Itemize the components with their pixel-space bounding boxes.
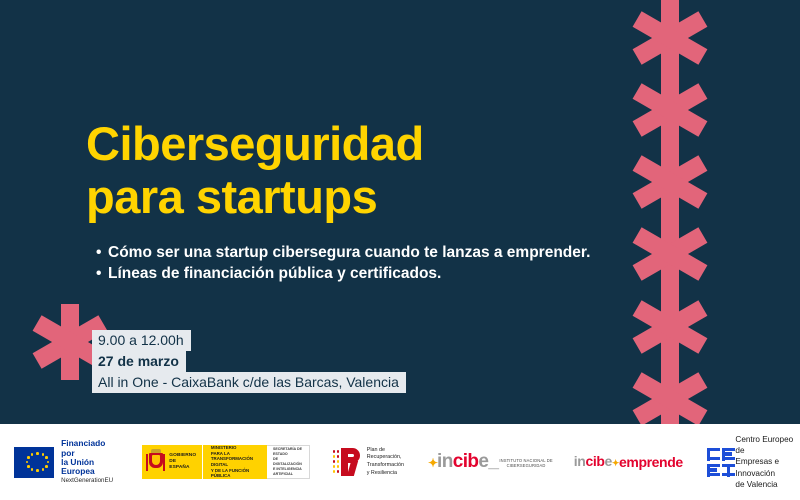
incibe-logo: ✦incibe_ INSTITUTO NACIONAL DE CIBERSEGU… <box>428 452 554 473</box>
hero-section: Ciberseguridad para startups •Cómo ser u… <box>0 0 800 424</box>
ceei-mark-icon <box>707 448 730 477</box>
bullet-marker: • <box>96 263 108 284</box>
prtr-label: Plan de Recuperación, Transformación y R… <box>367 447 404 478</box>
emprende-part-3: e <box>604 453 611 469</box>
asterisk-icon-right-6 <box>633 361 708 424</box>
bullet-text: Cómo ser una startup cibersegura cuando … <box>108 244 590 261</box>
incibe-part-1: in <box>437 451 453 472</box>
gobierno-label: GOBIERNO DE ESPAÑA <box>169 453 197 471</box>
prtr-r-icon <box>332 447 362 477</box>
gobierno-block: GOBIERNO DE ESPAÑA <box>142 445 202 479</box>
emprende-wordmark-top: incibe✦ <box>574 454 619 470</box>
asterisk-icon-right-5 <box>633 289 708 365</box>
event-date: 27 de marzo <box>92 351 186 372</box>
plan-recuperacion-logo: Plan de Recuperación, Transformación y R… <box>332 447 404 478</box>
eu-funding-logo: Financiado por la Unión Europea NextGene… <box>14 439 120 485</box>
bullet-marker: • <box>96 242 108 263</box>
emprende-wordmark-bottom: emprende <box>619 455 683 469</box>
incibe-wordmark: ✦incibe_ <box>428 452 498 473</box>
eu-flag-icon <box>14 447 54 478</box>
ceei-valencia-logo: Centro Europeo de Empresas e Innovación … <box>707 434 800 489</box>
ministerio-block: MINISTERIO PARA LA TRANSFORMACIÓN DIGITA… <box>202 445 267 479</box>
emprende-part-1: in <box>574 453 586 469</box>
prtr-dots-icon <box>333 449 341 475</box>
poster-canvas: Ciberseguridad para startups •Cómo ser u… <box>0 0 800 500</box>
asterisk-icon-right-3 <box>633 144 708 220</box>
list-item: •Cómo ser una startup cibersegura cuando… <box>96 242 590 263</box>
incibe-emprende-logo: incibe✦ emprende <box>574 454 683 470</box>
eu-line-1: Financiado por <box>61 439 120 458</box>
ministerio-label: MINISTERIO PARA LA TRANSFORMACIÓN DIGITA… <box>211 445 261 479</box>
emprende-part-2: cib <box>585 453 604 469</box>
asterisk-icon-right-2 <box>633 72 708 148</box>
secretaria-block: SECRETARÍA DE ESTADO DE DIGITALIZACIÓN E… <box>267 445 310 479</box>
eu-line-2: la Unión Europea <box>61 458 120 477</box>
asterisk-icon-right-1 <box>633 0 708 76</box>
eu-line-3: NextGenerationEU <box>61 478 120 485</box>
page-title: Ciberseguridad para startups <box>86 118 424 223</box>
emprende-diamond-icon: ✦ <box>612 458 619 468</box>
incibe-subtitle: INSTITUTO NACIONAL DE CIBERSEGURIDAD <box>498 458 553 468</box>
footer-logo-bar: Financiado por la Unión Europea NextGene… <box>0 424 800 500</box>
incibe-part-3: e_ <box>478 451 498 472</box>
event-time: 9.00 a 12.00h <box>92 330 191 351</box>
bullet-text: Líneas de financiación pública y certifi… <box>108 265 441 282</box>
asterisk-icon-right-4 <box>633 216 708 292</box>
secretaria-label: SECRETARÍA DE ESTADO DE DIGITALIZACIÓN E… <box>273 447 304 476</box>
coat-of-arms-icon <box>146 449 165 475</box>
incibe-part-2: cib <box>453 451 479 472</box>
incibe-diamond-icon: ✦ <box>428 456 437 470</box>
gobierno-espana-logo: GOBIERNO DE ESPAÑA MINISTERIO PARA LA TR… <box>142 445 310 479</box>
bullet-list: •Cómo ser una startup cibersegura cuando… <box>96 242 590 284</box>
event-venue: All in One - CaixaBank c/de las Barcas, … <box>92 372 406 393</box>
list-item: •Líneas de financiación pública y certif… <box>96 263 590 284</box>
event-info-block: 9.00 a 12.00h 27 de marzo All in One - C… <box>92 330 406 393</box>
ceei-label: Centro Europeo de Empresas e Innovación … <box>735 434 800 489</box>
